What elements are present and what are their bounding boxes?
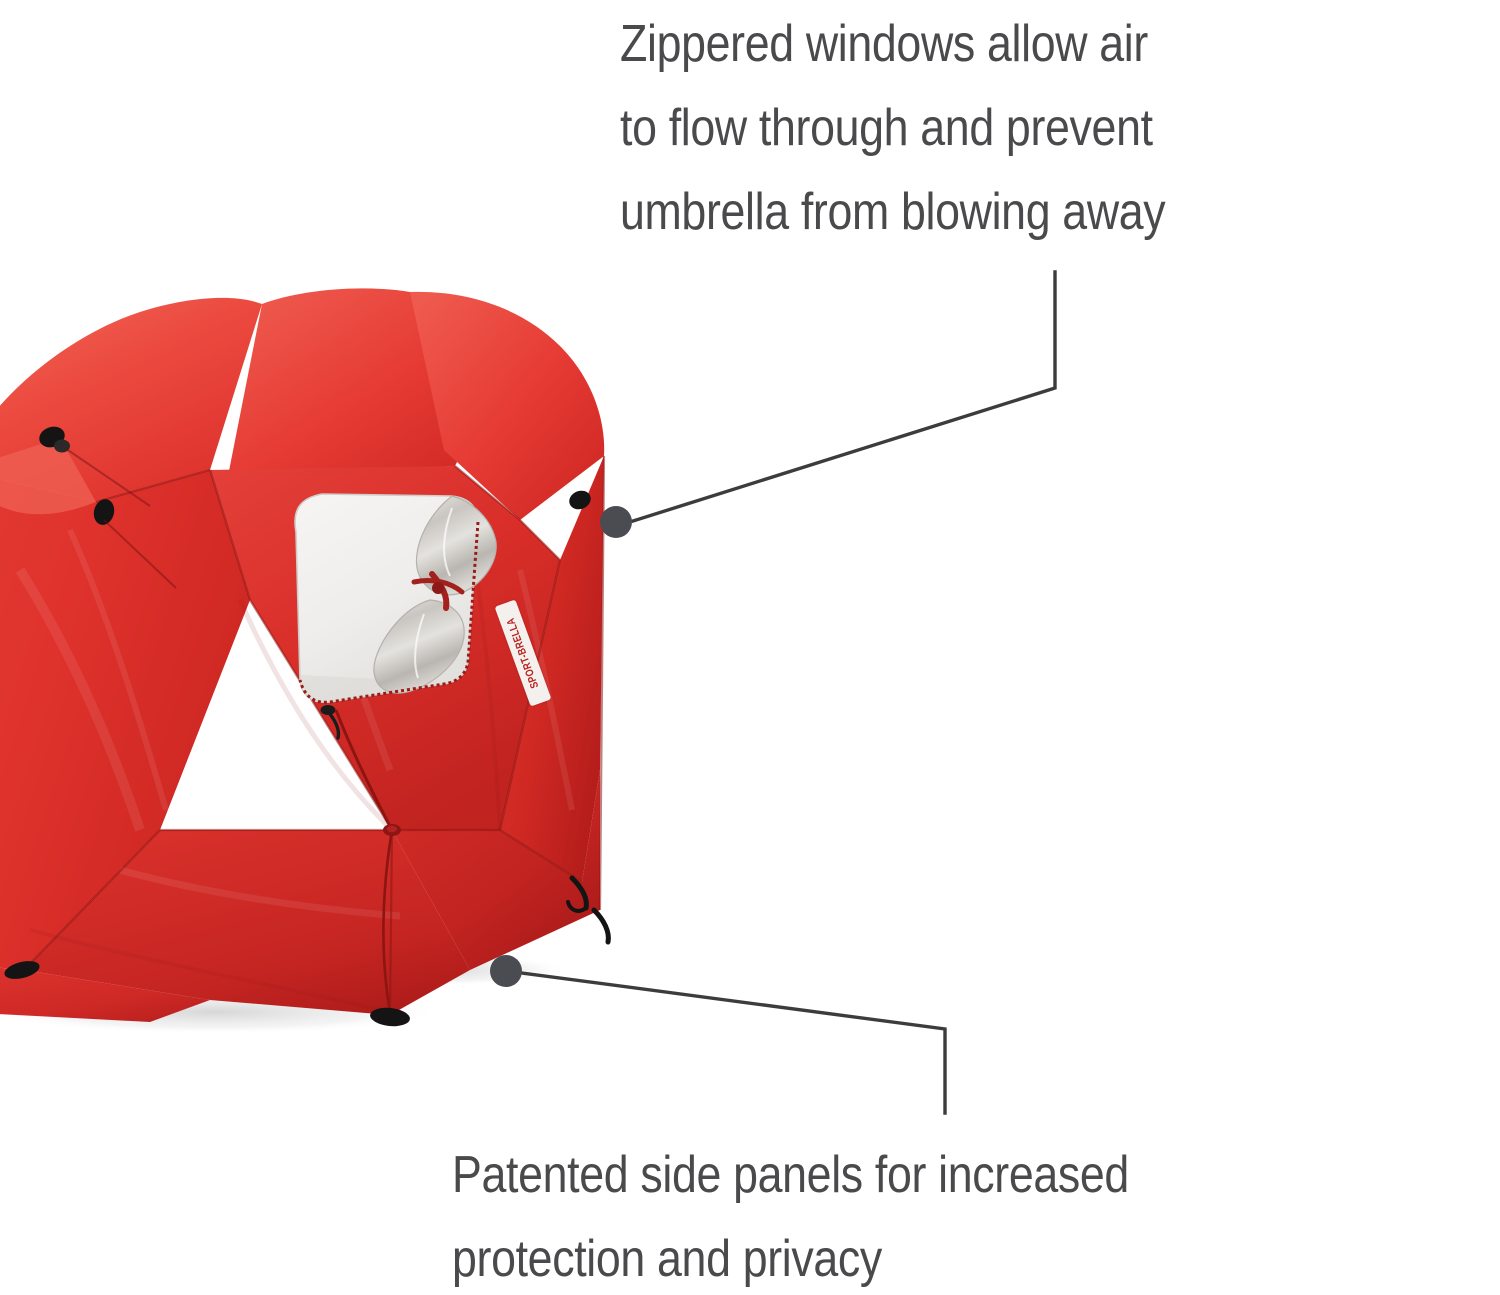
panel-junction-hub [383, 824, 401, 836]
infographic-canvas: SPORT-BRELLA Zippered windows allow air … [0, 0, 1500, 1295]
callout-text-side-panels: Patented side panels for increased prote… [452, 1133, 1500, 1295]
product-photo-sport-brella: SPORT-BRELLA [0, 270, 620, 1060]
stake-loop-lower-right [594, 910, 608, 942]
leader-line-zippered-windows [600, 272, 1055, 538]
callout-text-zippered-windows: Zippered windows allow air to flow throu… [620, 2, 1500, 254]
